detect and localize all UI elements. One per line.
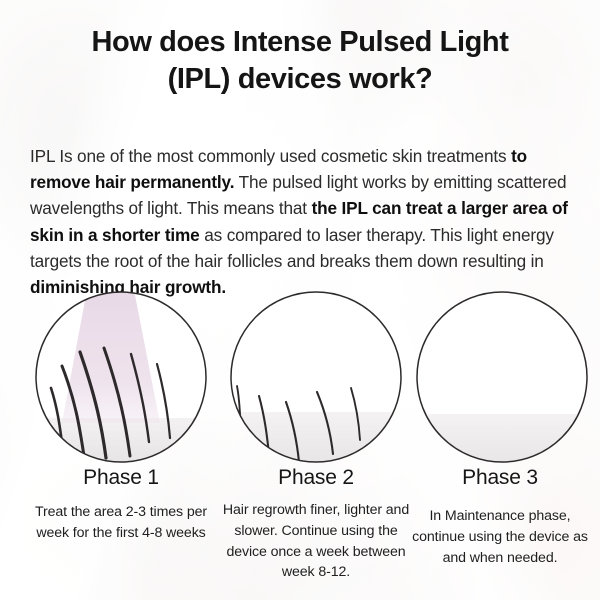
page-title-line-1: How does Intense Pulsed Light [92, 26, 509, 58]
infographic-content: How does Intense Pulsed Light (IPL) devi… [0, 0, 600, 600]
phase-3-block: Phase 3 In Maintenance phase, continue u… [404, 466, 596, 568]
phase-3-caption: In Maintenance phase, continue using the… [404, 506, 596, 568]
phase-1-caption: Treat the area 2-3 times per week for th… [18, 502, 224, 543]
page-title-line-2: (IPL) devices work? [168, 63, 433, 95]
phase-1-title: Phase 1 [18, 466, 224, 489]
phase-1-block: Phase 1 Treat the area 2-3 times per wee… [18, 466, 224, 544]
phase-1-diagram [34, 290, 208, 464]
phase-2-block: Phase 2 Hair regrowth finer, lighter and… [222, 466, 410, 583]
page-title: How does Intense Pulsed Light (IPL) devi… [30, 24, 570, 97]
ipl-infographic: How does Intense Pulsed Light (IPL) devi… [0, 0, 600, 600]
phase-3-diagram [415, 290, 589, 464]
body-paragraph: IPL Is one of the most commonly used cos… [30, 143, 576, 300]
phase-2-caption: Hair regrowth finer, lighter and slower.… [222, 500, 410, 583]
body-text-segment-1: IPL Is one of the most commonly used cos… [30, 146, 511, 166]
phase-3-title: Phase 3 [404, 466, 596, 489]
hair-short-fine-icon [229, 290, 403, 464]
phase-diagram-row [0, 290, 600, 466]
skin-clear-no-hair-icon [415, 290, 589, 464]
phase-2-diagram [229, 290, 403, 464]
hair-long-with-light-beam-icon [34, 290, 208, 464]
phase-2-title: Phase 2 [222, 466, 410, 489]
